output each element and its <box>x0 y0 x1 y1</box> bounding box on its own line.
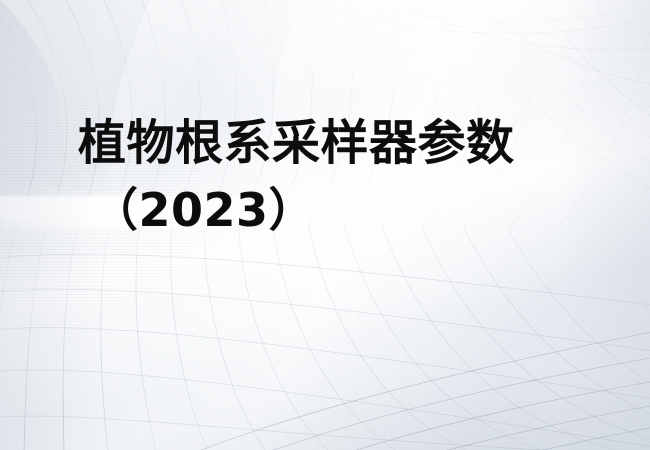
slide-title-line-1: 植物根系采样器参数 <box>0 112 650 174</box>
slide-title-block: 植物根系采样器参数 （2023） <box>0 112 650 240</box>
title-slide: 植物根系采样器参数 （2023） <box>0 0 650 450</box>
slide-title-line-2: （2023） <box>0 174 650 240</box>
